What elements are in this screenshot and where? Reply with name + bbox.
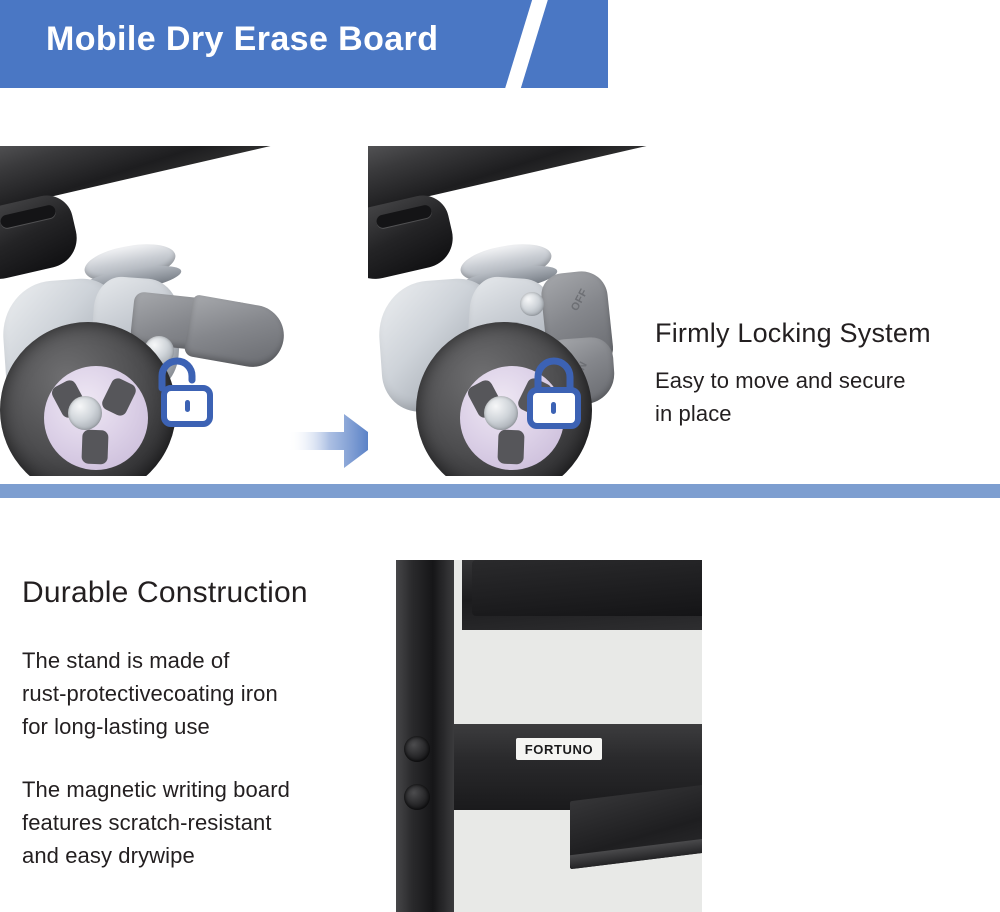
frame-end-cap (0, 190, 83, 285)
locking-copy-block: Firmly Locking System Easy to move and s… (655, 318, 1000, 430)
stand-vertical-post (396, 560, 454, 912)
transition-arrow (288, 410, 380, 472)
brand-label-plate: FORTUNO (516, 738, 602, 760)
banner-slash-decoration (501, 0, 552, 88)
locking-body-line-2: in place (655, 398, 1000, 431)
construction-p1-line-2: rust-protectivecoating iron (22, 677, 394, 710)
board-frame-corner (462, 560, 702, 630)
locked-padlock-icon (516, 354, 590, 432)
stand-frame-photo: FORTUNO (396, 560, 702, 912)
caster-photo-unlocked (0, 146, 302, 476)
construction-p1-line-1: The stand is made of (22, 644, 394, 677)
banner-title: Mobile Dry Erase Board (46, 20, 438, 59)
hub-spoke (100, 376, 138, 418)
locking-heading: Firmly Locking System (655, 318, 1000, 349)
hub-spoke (81, 430, 108, 465)
brake-top-bolt (520, 292, 544, 316)
construction-p1-line-3: for long-lasting use (22, 710, 394, 743)
board-frame-inner (472, 560, 702, 616)
locking-body: Easy to move and secure in place (655, 365, 1000, 430)
locking-system-section: OFF ON Firmly Locking System (0, 88, 1000, 484)
product-infographic-page: Mobile Dry Erase Board (0, 0, 1000, 912)
post-bolt-upper (404, 736, 430, 762)
construction-heading: Durable Construction (22, 576, 394, 610)
section-divider (0, 484, 1000, 498)
construction-p2-line-1: The magnetic writing board (22, 773, 394, 806)
durable-construction-section: Durable Construction The stand is made o… (0, 498, 1000, 912)
hub-spoke (497, 430, 524, 465)
header-banner: Mobile Dry Erase Board (0, 0, 608, 88)
wheel-axle-bolt (484, 396, 518, 430)
unlocked-padlock-icon (142, 354, 216, 432)
brand-label-text: FORTUNO (525, 742, 593, 757)
construction-copy-block: Durable Construction The stand is made o… (22, 576, 394, 872)
wheel-axle-bolt (68, 396, 102, 430)
construction-paragraph-2: The magnetic writing board features scra… (22, 773, 394, 872)
caster-photo-locked: OFF ON (368, 146, 678, 476)
frame-end-cap (368, 190, 459, 285)
construction-p2-line-3: and easy drywipe (22, 839, 394, 872)
construction-paragraph-1: The stand is made of rust-protectivecoat… (22, 644, 394, 743)
construction-p2-line-2: features scratch-resistant (22, 806, 394, 839)
locking-body-line-1: Easy to move and secure (655, 365, 1000, 398)
post-bolt-lower (404, 784, 430, 810)
